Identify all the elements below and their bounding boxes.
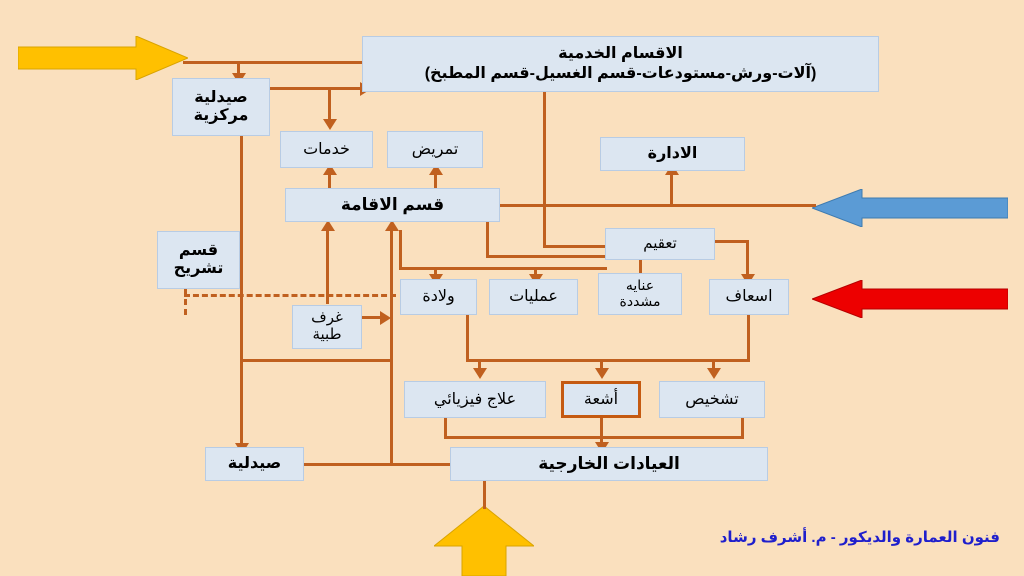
box-autopsy[interactable]: قسم تشريح — [157, 231, 240, 289]
connector-outpatient-to-pharmacy — [300, 463, 452, 466]
connector-outpatient-to-entrance — [483, 481, 486, 509]
connector-sterilization-to-emergency — [713, 240, 749, 243]
connector-central-pharmacy-down — [240, 113, 243, 453]
visitor-flow-arrow — [434, 506, 534, 576]
connector-autopsy-dashed-v — [184, 289, 187, 315]
connector-emergency-down — [747, 314, 750, 361]
emergency-flow-arrow — [812, 280, 1008, 318]
service-departments-line1: الاقسام الخدمية — [558, 45, 683, 63]
box-emergency[interactable]: اسعاف — [709, 279, 789, 315]
connector-sterilization-left — [486, 255, 606, 258]
connector-emergency-drop — [746, 240, 749, 277]
box-nursing[interactable]: تمريض — [387, 131, 483, 168]
connector-title-to-sterilization — [543, 88, 546, 247]
connector-sterilization-feed — [543, 245, 605, 248]
connector-medical-rooms-riser — [326, 228, 329, 304]
connector-spine-to-administration — [670, 172, 673, 206]
supply-flow-arrow — [18, 36, 188, 80]
connector-central-pharmacy-to-title — [270, 87, 362, 90]
connector-left-riser-main — [390, 228, 393, 464]
box-central-pharmacy[interactable]: صيدلية مركزية — [172, 78, 270, 136]
service-departments-line2: (آلات-ورش-مستودعات-قسم الغسيل-قسم المطبخ… — [425, 65, 817, 83]
arrowhead-services — [323, 119, 337, 130]
connector-inpatient-spine — [500, 204, 816, 207]
box-outpatient[interactable]: العيادات الخارجية — [450, 447, 768, 481]
arrowhead-medical-rooms — [380, 311, 391, 325]
connector-clinical-row-spine — [399, 267, 607, 270]
connector-diagnosis-down — [741, 418, 744, 438]
box-icu[interactable]: عنايه مشددة — [598, 273, 682, 315]
box-medical-rooms[interactable]: غرف طبية — [292, 305, 362, 349]
connector-lower-bracket — [466, 359, 750, 362]
credit-text: فنون العمارة والديكور - م. أشرف رشاد — [520, 528, 1000, 546]
box-radiology[interactable]: أشعة — [561, 381, 641, 418]
box-inpatient[interactable]: قسم الاقامة — [285, 188, 500, 222]
box-physiotherapy[interactable]: علاج فيزيائي — [404, 381, 546, 418]
connector-title-to-services — [328, 88, 331, 122]
connector-maternity-down — [466, 314, 469, 361]
box-services[interactable]: خدمات — [280, 131, 373, 168]
box-sterilization[interactable]: تعقيم — [605, 228, 715, 260]
connector-medical-rooms-tie — [241, 359, 393, 362]
diagram-canvas: الاقسام الخدمية (آلات-ورش-مستودعات-قسم ا… — [0, 0, 1024, 576]
box-service-departments[interactable]: الاقسام الخدمية (آلات-ورش-مستودعات-قسم ا… — [362, 36, 879, 92]
staff-flow-arrow — [812, 189, 1008, 227]
connector-spine-left-riser — [399, 230, 402, 268]
connector-supply-to-title — [183, 61, 363, 64]
box-administration[interactable]: الادارة — [600, 137, 745, 171]
arrowhead-radiology — [595, 368, 609, 379]
connector-physio-down — [444, 418, 447, 438]
box-maternity[interactable]: ولادة — [400, 279, 477, 315]
box-operations[interactable]: عمليات — [489, 279, 578, 315]
box-pharmacy[interactable]: صيدلية — [205, 447, 304, 481]
connector-autopsy-dashed-h — [184, 294, 396, 297]
box-diagnosis[interactable]: تشخيص — [659, 381, 765, 418]
connector-outpatient-bracket — [444, 436, 744, 439]
arrowhead-diagnosis — [707, 368, 721, 379]
arrowhead-physiotherapy — [473, 368, 487, 379]
